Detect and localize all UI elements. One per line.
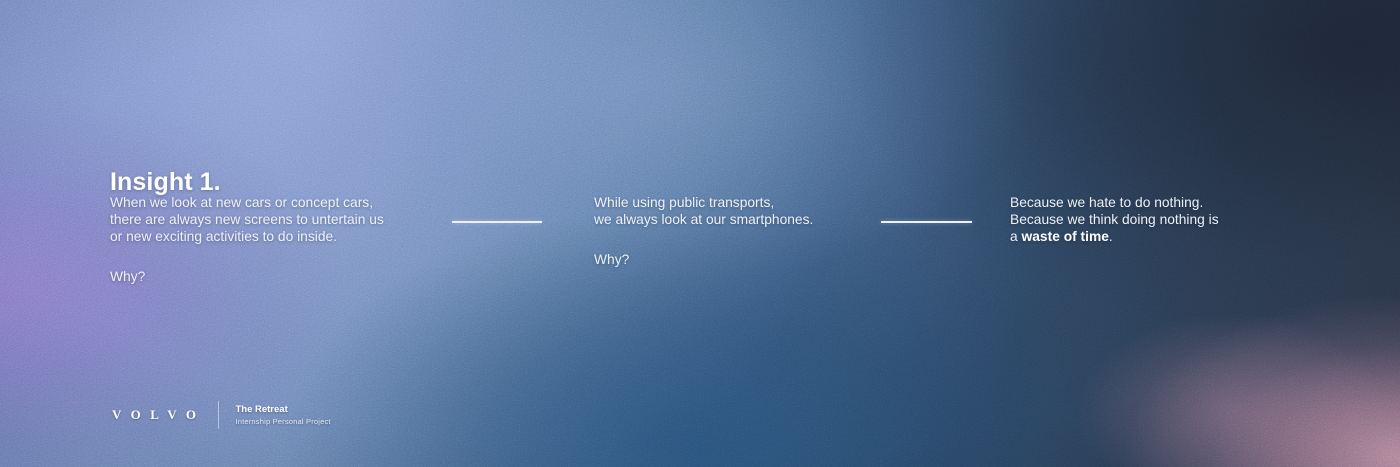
volvo-logo-wordmark: VOLVO [110, 407, 205, 423]
conclusion-text-tail: . [1109, 229, 1113, 244]
insight-observation-question: Why? [594, 251, 629, 268]
insight-conclusion-text: Because we hate to do nothing. Because w… [1010, 194, 1270, 246]
footer-project-subtitle: Internship Personal Project [235, 416, 330, 428]
footer-project-title: The Retreat [235, 403, 330, 416]
connector-line-1 [452, 221, 542, 223]
insight-premise-question: Why? [110, 268, 145, 285]
insight-observation-text: While using public transports, we always… [594, 194, 894, 228]
page-title: Insight 1. [110, 169, 221, 197]
insight-premise-text: When we look at new cars or concept cars… [110, 194, 440, 246]
footer-divider [218, 401, 219, 429]
footer-branding: VOLVO The Retreat Internship Personal Pr… [110, 400, 331, 430]
slide-content: Insight 1. When we look at new cars or c… [0, 0, 1400, 467]
slide-canvas: Insight 1. When we look at new cars or c… [0, 0, 1400, 467]
footer-project-info: The Retreat Internship Personal Project [235, 403, 330, 428]
conclusion-emphasis: waste of time [1022, 229, 1109, 244]
connector-line-2 [881, 221, 972, 223]
